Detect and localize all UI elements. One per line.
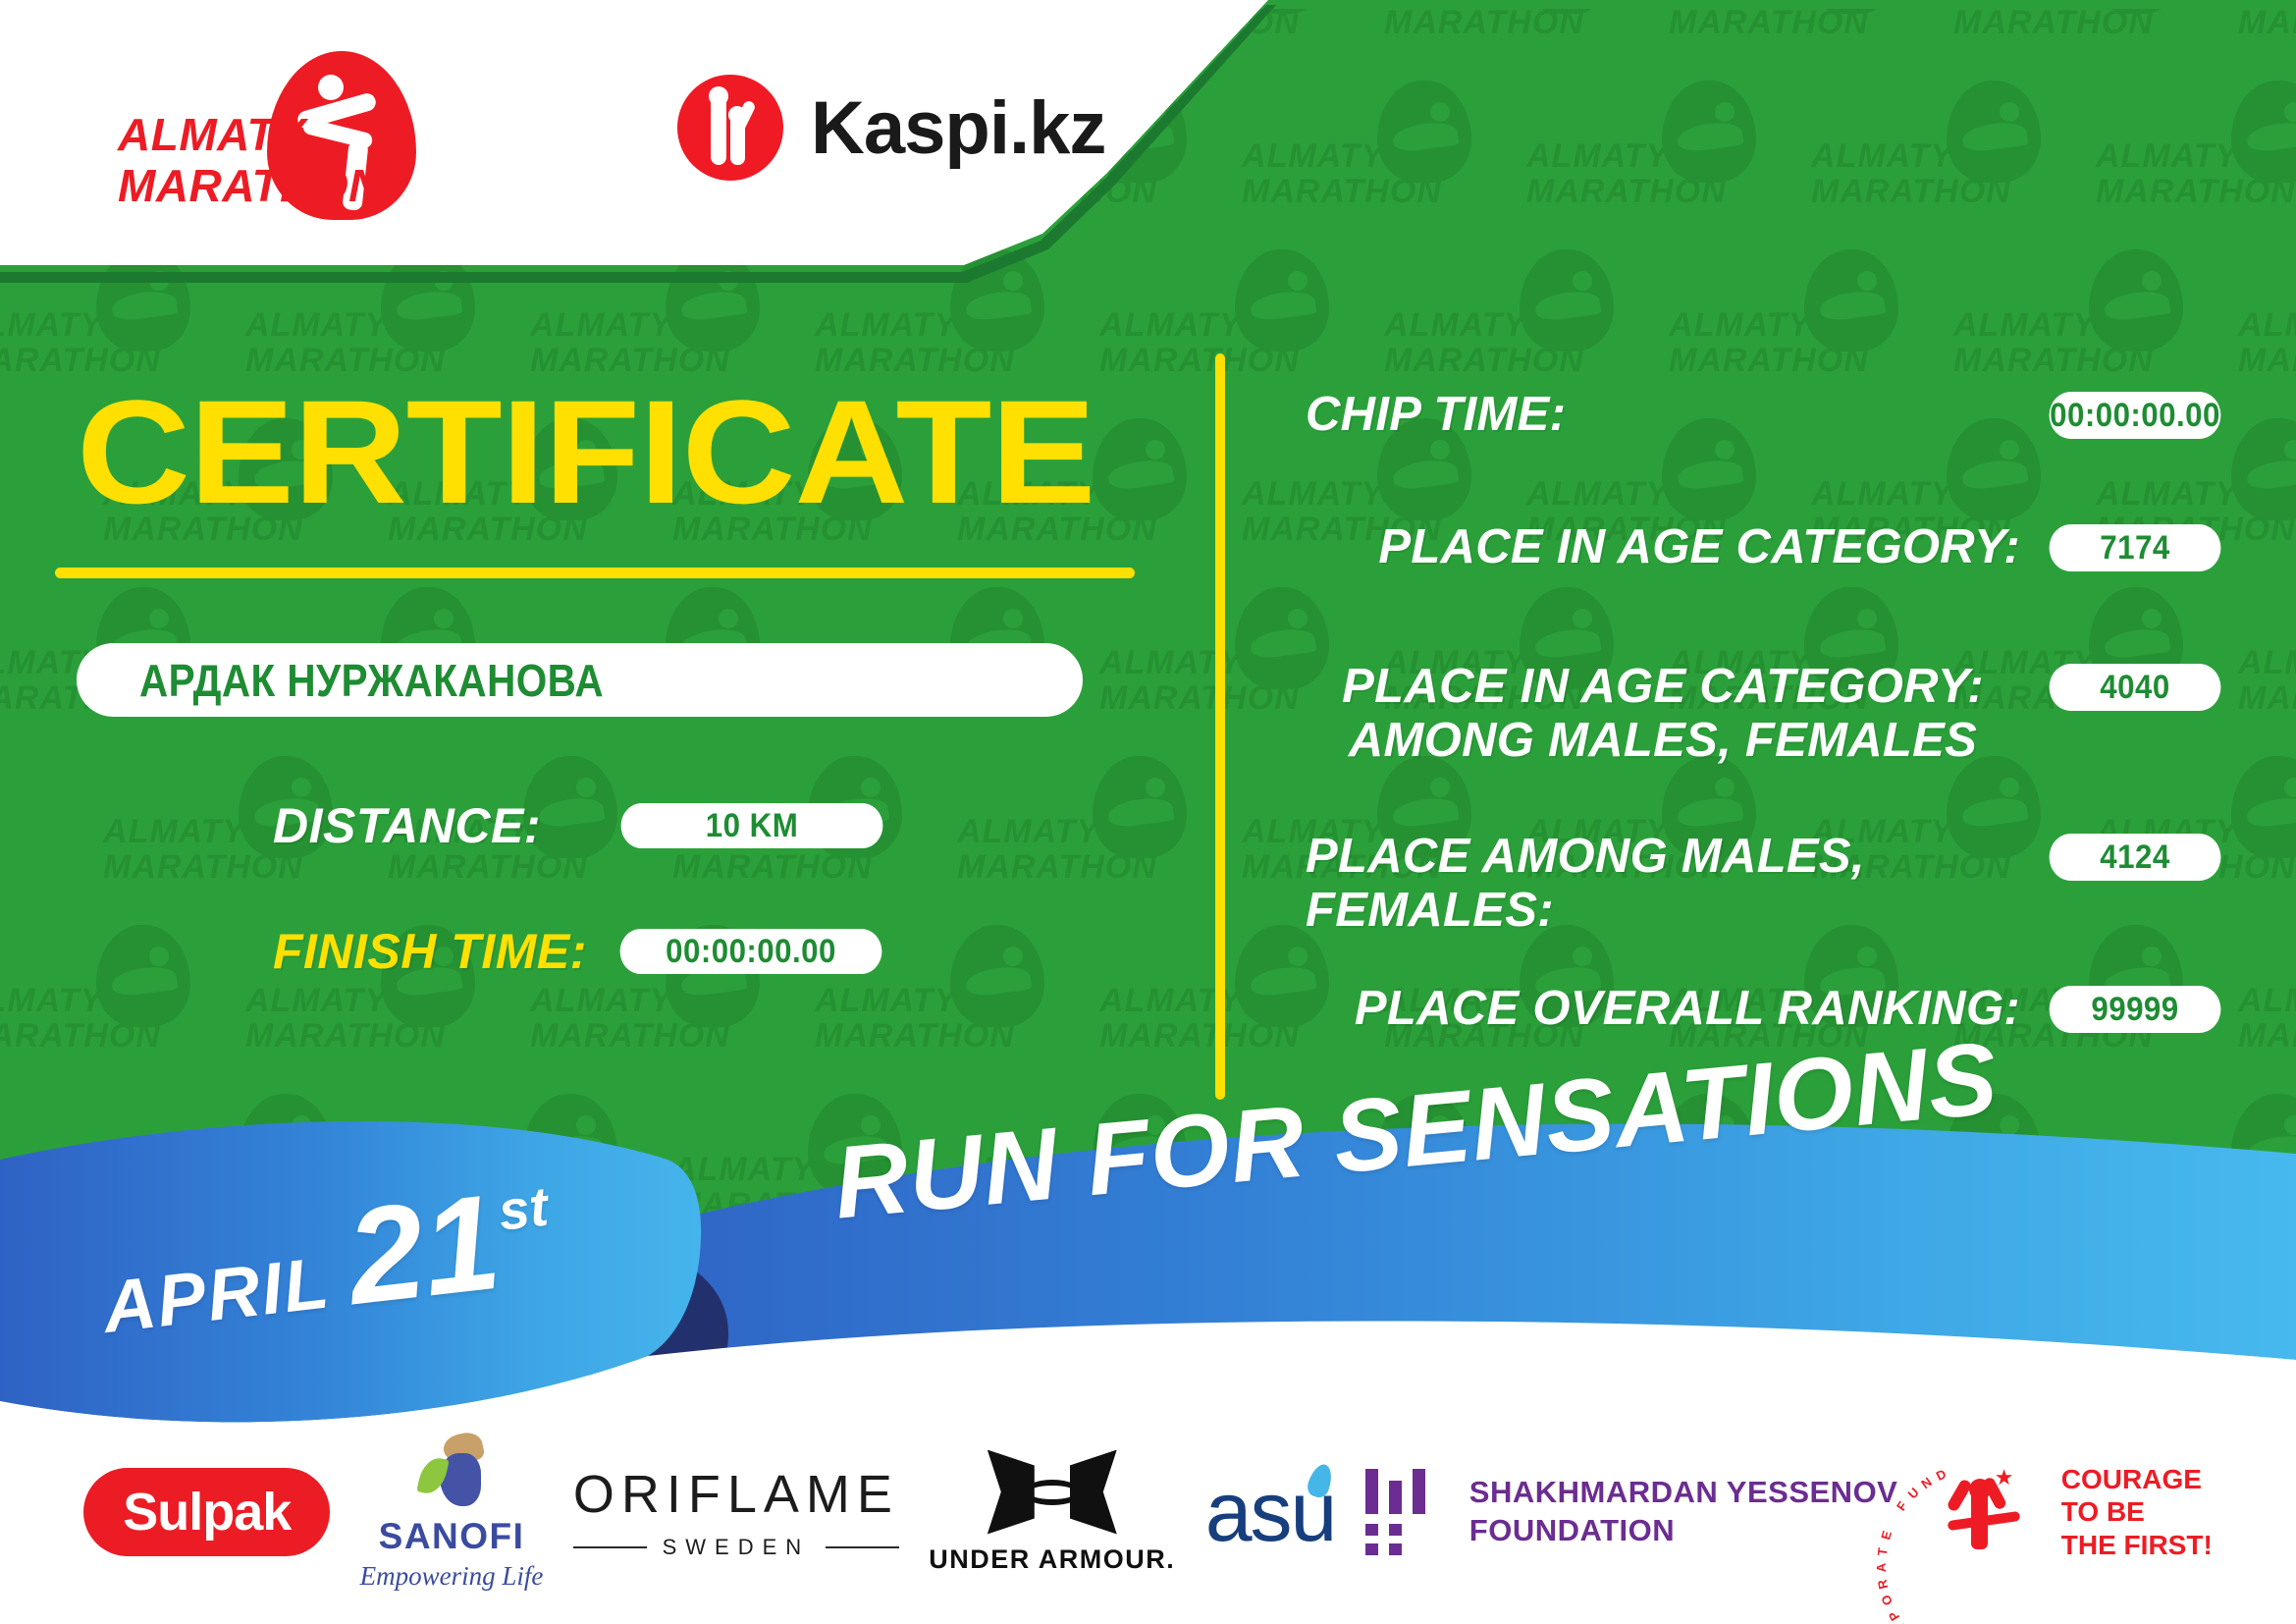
chip-time-label: CHIP TIME: <box>1306 388 2020 442</box>
watermark-tile: ALMATYMARATHON <box>2238 984 2296 1054</box>
watermark-line-2: MARATHON <box>1669 344 1963 379</box>
sponsor-under-armour: UNDER ARMOUR. <box>929 1450 1175 1575</box>
watermark-line-2: MARATHON <box>2238 681 2296 717</box>
watermark-drop-icon <box>1093 418 1187 520</box>
cf-arc-char: U <box>1904 1485 1921 1501</box>
watermark-line-2: MARATHON <box>1384 6 1679 41</box>
watermark-tile: ALMATYMARATHON <box>815 984 1109 1054</box>
chip-time-row: CHIP TIME: 00:00:00.00 <box>1306 388 2228 442</box>
watermark-line-2: MARATHON <box>815 1019 1109 1055</box>
yessenov-bars-icon <box>1365 1469 1444 1555</box>
yessenov-line-2: FOUNDATION <box>1469 1512 1898 1550</box>
cf-arc-char: O <box>1878 1593 1896 1607</box>
page-title: CERTIFICATE <box>77 378 1095 525</box>
label-line-2: AMONG MALES, FEMALES <box>1306 714 2020 768</box>
event-day-suffix: st <box>496 1179 551 1239</box>
cf-arc-char: D <box>1934 1466 1949 1484</box>
oriflame-wordmark: ORIFLAME <box>573 1464 899 1525</box>
oriflame-rule-left <box>573 1546 647 1548</box>
finish-time-label: FINISH TIME: <box>273 923 587 980</box>
place-age-category-gender-value: 4040 <box>2050 664 2221 711</box>
cf-arc-char: T <box>1874 1547 1890 1557</box>
participant-name-value: АРДАК НУРЖАКАНОВА <box>139 654 604 707</box>
place-age-category-gender-row: PLACE IN AGE CATEGORY: AMONG MALES, FEMA… <box>1306 660 2228 768</box>
watermark-drop-icon <box>2089 249 2183 352</box>
watermark-line-2: MARATHON <box>1953 6 2248 41</box>
under-armour-wordmark: UNDER ARMOUR. <box>929 1544 1175 1575</box>
yessenov-bar <box>1365 1469 1378 1514</box>
place-overall-ranking-value: 99999 <box>2050 986 2221 1033</box>
sponsor-asu: asu <box>1205 1470 1336 1554</box>
watermark-line-2: MARATHON <box>103 850 398 886</box>
cf-arc-char: A <box>1873 1563 1888 1573</box>
finish-time-value: 00:00:00.00 <box>619 929 881 974</box>
watermark-drop-icon <box>2231 418 2296 520</box>
watermark-line-1: ALMATY <box>2238 984 2296 1019</box>
watermark-line-2: MARATHON <box>530 1019 825 1055</box>
watermark-line-1: ALMATY <box>2238 646 2296 681</box>
watermark-drop-icon <box>1093 756 1187 858</box>
watermark-drop-icon <box>2231 756 2296 858</box>
place-among-gender-label: PLACE AMONG MALES, FEMALES: <box>1306 830 2020 938</box>
cf-arc-char: N <box>1918 1474 1934 1491</box>
almaty-marathon-logo: ALMATY MARATHON <box>118 61 442 198</box>
cf-line-2: TO BE <box>2061 1495 2213 1529</box>
watermark-line-2: MARATHON <box>672 850 967 886</box>
marathon-line: MARATHON <box>118 161 382 212</box>
place-among-gender-value: 4124 <box>2050 834 2221 881</box>
place-age-category-row: PLACE IN AGE CATEGORY: 7174 <box>1306 520 2228 574</box>
watermark-line-2: MARATHON <box>1953 344 2248 379</box>
almaty-line: ALMATY <box>118 110 382 161</box>
yessenov-bar <box>1413 1469 1425 1514</box>
watermark-tile: ALMATYMARATHON <box>245 308 540 378</box>
yessenov-wordmark: SHAKHMARDAN YESSENOV FOUNDATION <box>1469 1474 1898 1550</box>
watermark-tile: ALMATYMARATHON <box>1811 139 2106 209</box>
watermark-drop-icon <box>96 925 190 1027</box>
watermark-tile: ALMATYMARATHON <box>1669 308 1963 378</box>
watermark-line-2: MARATHON <box>2238 344 2296 379</box>
watermark-tile: ALMATYMARATHON <box>1526 139 1821 209</box>
watermark-line-2: MARATHON <box>1669 6 1963 41</box>
label-line-2: FEMALES: <box>1306 884 2020 938</box>
kaspi-figures-icon <box>677 75 783 181</box>
distance-value: 10 KM <box>621 803 883 848</box>
watermark-line-2: MARATHON <box>1099 344 1394 379</box>
yessenov-bar <box>1365 1524 1378 1536</box>
watermark-tile: ALMATYMARATHON <box>815 308 1109 378</box>
watermark-drop-icon <box>950 925 1044 1027</box>
sanofi-wordmark: SANOFI <box>379 1516 525 1557</box>
place-age-category-gender-label: PLACE IN AGE CATEGORY: AMONG MALES, FEMA… <box>1306 660 2020 768</box>
ua-center-ring-icon <box>1023 1480 1082 1505</box>
distance-label: DISTANCE: <box>273 797 541 854</box>
oriflame-tagline: SWEDEN <box>663 1535 811 1560</box>
watermark-tile: ALMATYMARATHON <box>0 308 255 378</box>
watermark-line-2: MARATHON <box>2238 6 2296 41</box>
kaspi-child-head-icon <box>728 106 746 124</box>
sponsor-corporate-fund: CORPORATE FUND ★ COURAGE TO BE THE FIRST… <box>1928 1453 2213 1571</box>
watermark-drop-icon <box>1235 249 1329 352</box>
kaspi-adult-head-icon <box>709 86 728 106</box>
participant-name-field: АРДАК НУРЖАКАНОВА <box>77 643 1083 717</box>
title-underline <box>55 568 1135 578</box>
kaspi-wordmark: Kaspi.kz <box>811 85 1105 171</box>
watermark-tile: ALMATYMARATHON <box>1953 308 2248 378</box>
watermark-line-2: MARATHON <box>245 1019 540 1055</box>
watermark-line-2: MARATHON <box>2238 1019 2296 1055</box>
certificate-root: ALMATYMARATHONALMATYMARATHONALMATYMARATH… <box>0 0 2296 1624</box>
column-divider <box>1215 353 1225 1100</box>
yessenov-bar <box>1389 1543 1402 1555</box>
watermark-tile: ALMATYMARATHON <box>1242 139 1536 209</box>
watermark-tile: ALMATYMARATHON <box>2238 646 2296 716</box>
watermark-tile: ALMATYMARATHON <box>957 815 1252 885</box>
finish-time-row: FINISH TIME: 00:00:00.00 <box>273 923 893 980</box>
cf-arc-char: P <box>1885 1608 1901 1623</box>
chip-time-value: 00:00:00.00 <box>2050 392 2221 439</box>
almaty-marathon-wordmark: ALMATY MARATHON <box>118 110 382 211</box>
watermark-tile: ALMATYMARATHON <box>1384 308 1679 378</box>
place-overall-ranking-row: PLACE OVERALL RANKING: 99999 <box>1306 982 2228 1036</box>
sponsor-oriflame: ORIFLAME SWEDEN <box>573 1464 899 1560</box>
watermark-line-2: MARATHON <box>1242 175 1536 210</box>
label-line-1: PLACE AMONG MALES, <box>1306 830 2020 884</box>
yessenov-bar <box>1389 1524 1402 1536</box>
watermark-tile: ALMATYMARATHON <box>530 308 825 378</box>
watermark-line-2: MARATHON <box>957 850 1252 886</box>
watermark-drop-icon <box>1377 81 1471 183</box>
sponsor-sulpak: Sulpak <box>83 1468 330 1556</box>
watermark-line-2: MARATHON <box>1526 175 1821 210</box>
kaspi-logo: Kaspi.kz <box>677 69 1105 187</box>
corporate-fund-slogan: COURAGE TO BE THE FIRST! <box>2061 1463 2213 1562</box>
watermark-tile: ALMATYMARATHON <box>530 984 825 1054</box>
place-age-category-value: 7174 <box>2050 524 2221 571</box>
sanofi-tagline: Empowering Life <box>360 1561 544 1592</box>
yessenov-bar <box>1365 1543 1378 1555</box>
sanofi-icon <box>416 1434 487 1508</box>
watermark-tile: ALMATYMARATHON <box>245 984 540 1054</box>
event-day: 21 <box>342 1180 506 1322</box>
runner-head-icon <box>318 75 344 100</box>
sponsor-yessenov-foundation: SHAKHMARDAN YESSENOV FOUNDATION <box>1365 1469 1898 1555</box>
label-line-1: PLACE IN AGE CATEGORY: <box>1306 660 2020 714</box>
watermark-tile: ALMATYMARATHON <box>0 984 255 1054</box>
yessenov-line-1: SHAKHMARDAN YESSENOV <box>1469 1474 1898 1512</box>
event-ribbon: APRIL 21 st RUN FOR SENSATIONS <box>0 1065 2296 1478</box>
watermark-line-2: MARATHON <box>1811 175 2106 210</box>
sulpak-wordmark: Sulpak <box>83 1468 330 1556</box>
watermark-drop-icon <box>1520 249 1614 352</box>
cf-line-1: COURAGE <box>2061 1463 2213 1496</box>
watermark-tile: ALMATYMARATHON <box>1099 308 1394 378</box>
watermark-tile: ALMATYMARATHON <box>2238 308 2296 378</box>
watermark-line-2: MARATHON <box>388 850 682 886</box>
watermark-drop-icon <box>1662 81 1756 183</box>
watermark-line-2: MARATHON <box>1384 344 1679 379</box>
under-armour-icon <box>988 1450 1117 1535</box>
watermark-tile: ALMATYMARATHON <box>2096 139 2296 209</box>
place-age-category-label: PLACE IN AGE CATEGORY: <box>1306 520 2020 574</box>
sponsor-strip: Sulpak SANOFI Empowering Life ORIFLAME S… <box>0 1429 2296 1596</box>
yessenov-bar <box>1389 1481 1402 1514</box>
distance-row: DISTANCE: 10 KM <box>273 797 894 854</box>
corporate-fund-icon: CORPORATE FUND ★ <box>1928 1453 2046 1571</box>
oriflame-rule-right <box>826 1546 899 1548</box>
oriflame-subline: SWEDEN <box>573 1535 899 1560</box>
sponsor-sanofi: SANOFI Empowering Life <box>360 1434 544 1592</box>
cf-arc-char: R <box>1874 1578 1891 1590</box>
watermark-line-1: ALMATY <box>2238 308 2296 344</box>
watermark-drop-icon <box>1947 81 2041 183</box>
watermark-drop-icon <box>1804 249 1898 352</box>
watermark-drop-icon <box>2231 81 2296 183</box>
cf-line-3: THE FIRST! <box>2061 1529 2213 1562</box>
place-among-gender-row: PLACE AMONG MALES, FEMALES: 4124 <box>1306 830 2228 938</box>
